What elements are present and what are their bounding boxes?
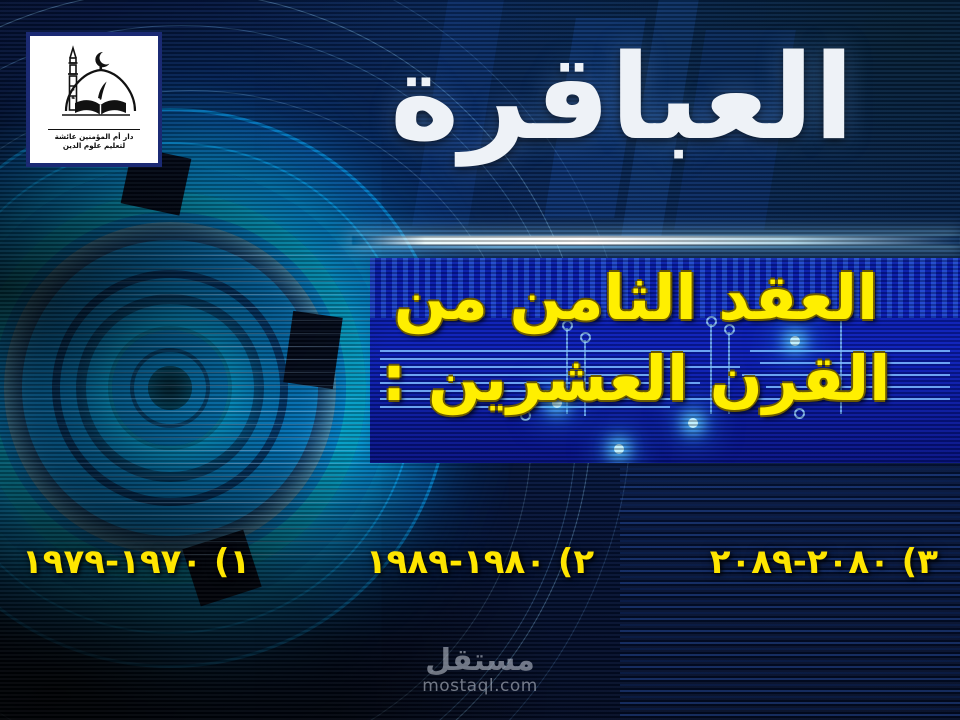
light-streak-secondary [300, 246, 960, 249]
answer-option-2[interactable]: ٢) ١٩٨٠-١٩٨٩ [366, 542, 594, 582]
slide-subtitle: العقد الثامن من القرن العشرين : [336, 258, 936, 419]
subtitle-line-1: العقد الثامن من [336, 258, 936, 339]
mostaql-watermark: مستقل mostaql.com [0, 646, 960, 695]
institution-logo: دار أم المؤمنين عائشة لتعليم علوم الدين [26, 32, 162, 167]
answer-option-1[interactable]: ١) ١٩٧٠-١٩٧٩ [22, 542, 250, 582]
logo-caption-line-2: لتعليم علوم الدين [63, 141, 125, 150]
logo-caption-line-1: دار أم المؤمنين عائشة [55, 132, 134, 141]
answer-options-row: ٣) ٢٠٨٠-٢٠٨٩ ٢) ١٩٨٠-١٩٨٩ ١) ١٩٧٠-١٩٧٩ [0, 534, 960, 590]
watermark-domain: mostaql.com [422, 678, 538, 695]
answer-option-3[interactable]: ٣) ٢٠٨٠-٢٠٨٩ [710, 542, 938, 582]
logo-divider [48, 129, 140, 130]
mosque-logo-icon [42, 40, 146, 128]
light-streak-primary [352, 236, 960, 245]
subtitle-line-2: القرن العشرين : [336, 339, 936, 420]
watermark-arabic-logo: مستقل [425, 646, 535, 676]
slide-title: العباقرة [312, 28, 932, 167]
presentation-slide: دار أم المؤمنين عائشة لتعليم علوم الدين … [0, 0, 960, 720]
